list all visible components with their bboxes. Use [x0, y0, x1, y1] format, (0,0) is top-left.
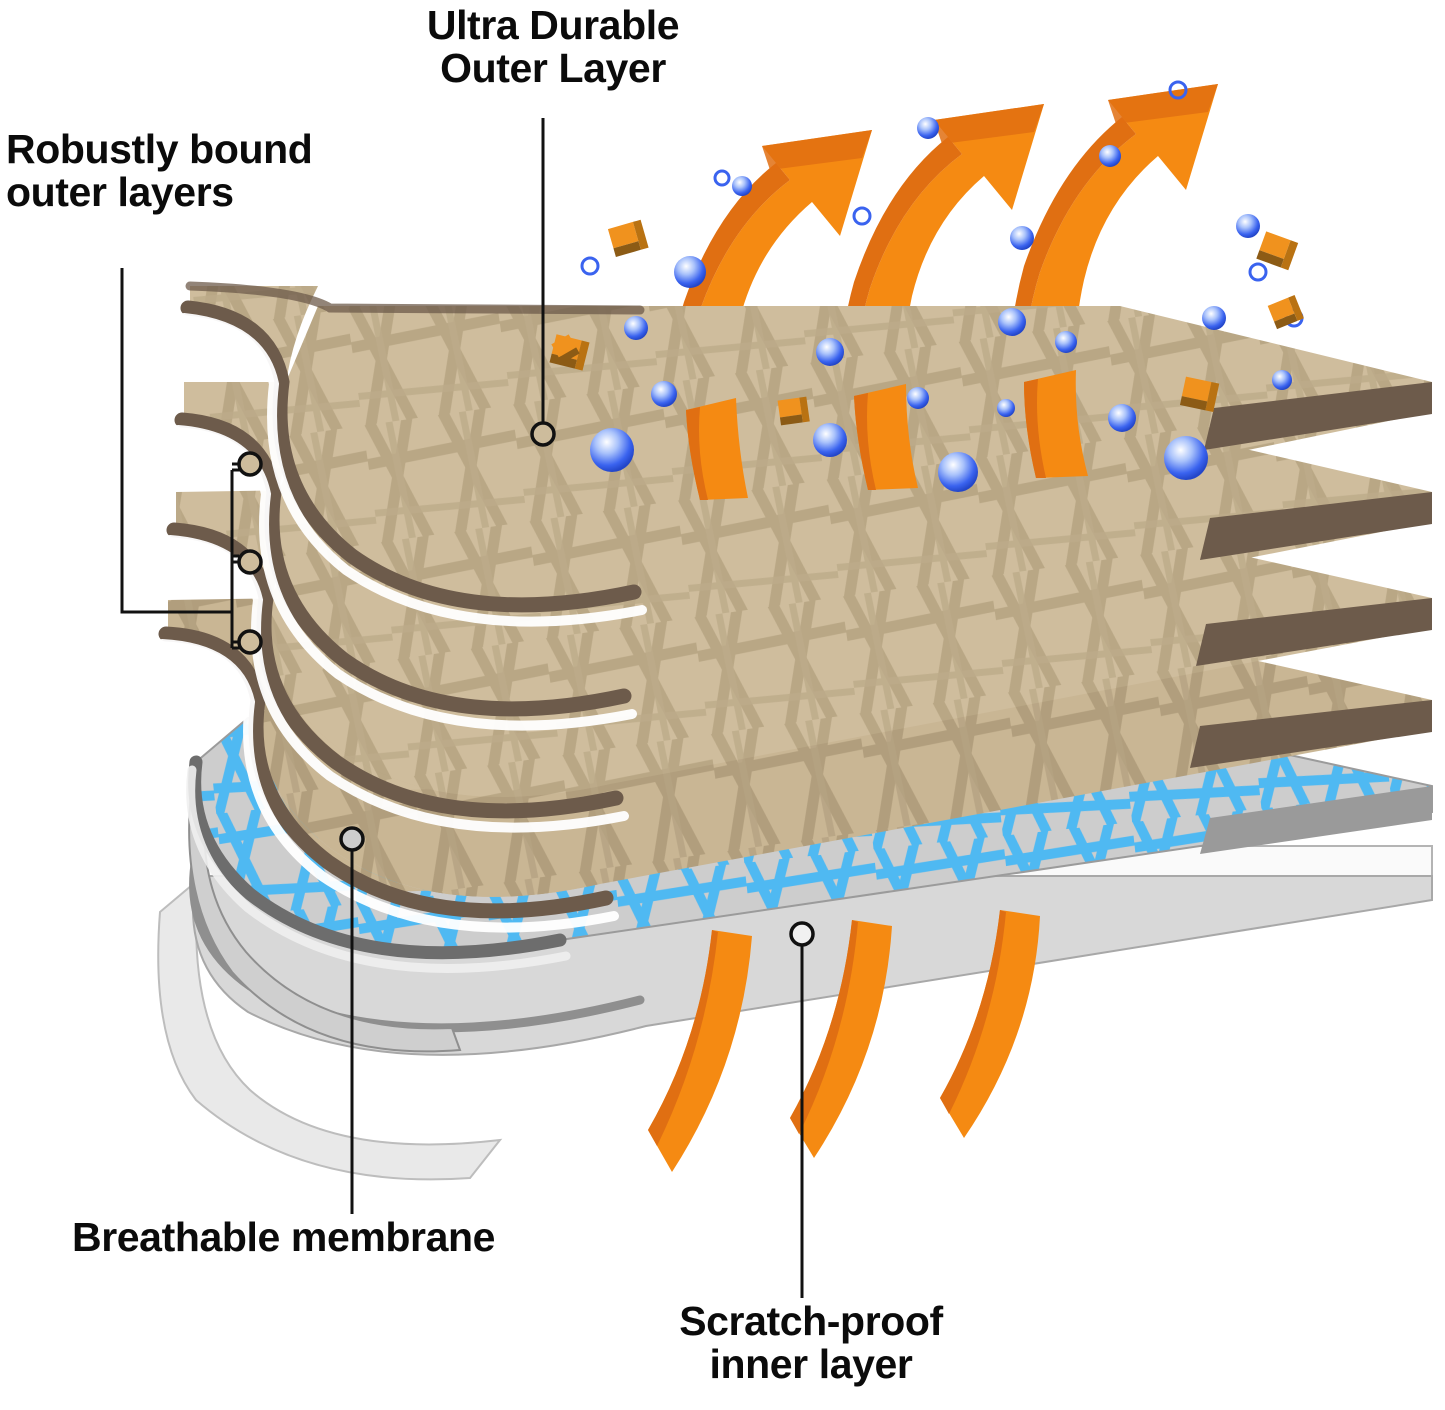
label-scratch-proof-inner-layer: Scratch-proof inner layer	[620, 1300, 1002, 1387]
label-ultra-durable-outer-layer: Ultra Durable Outer Layer	[383, 4, 723, 91]
label-robustly-bound-outer-layers: Robustly bound outer layers	[6, 128, 406, 215]
diagram-canvas: Ultra Durable Outer Layer Robustly bound…	[0, 0, 1445, 1410]
label-breathable-membrane: Breathable membrane	[72, 1216, 662, 1259]
